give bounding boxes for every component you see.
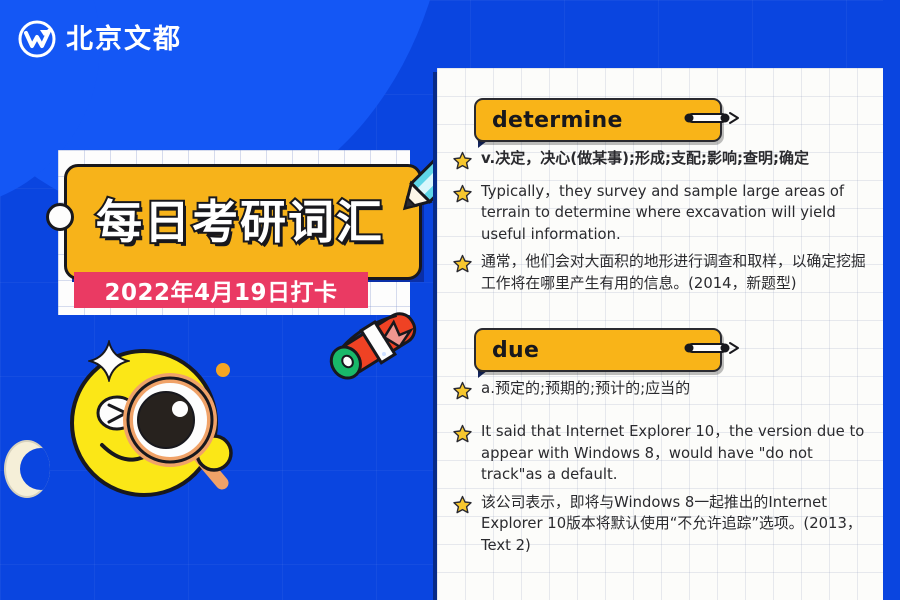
date-badge: 2022年4月19日打卡 xyxy=(74,272,368,308)
speaker-icon[interactable] xyxy=(682,109,740,127)
diploma-scroll-icon xyxy=(322,298,438,408)
vocab-entry: due xyxy=(437,310,883,556)
word-badge-wrap: determine xyxy=(474,98,718,142)
list-item: a.预定的;预期的;预计的;应当的 xyxy=(453,378,869,405)
circular-w-mark-icon xyxy=(18,20,56,58)
right-edge-strip xyxy=(883,0,900,600)
list-item: It said that Internet Explorer 10，the ve… xyxy=(453,421,869,485)
star-icon xyxy=(453,184,472,208)
line-spacer xyxy=(449,411,869,421)
sparkle-icon xyxy=(88,340,130,382)
dot-accent-orange xyxy=(216,363,230,377)
page-title: 每日考研词汇 xyxy=(64,164,416,274)
dot-accent-white xyxy=(382,352,386,356)
example-en-text: It said that Internet Explorer 10，the ve… xyxy=(481,421,869,485)
poster-canvas: 北京文都 每日考研词汇 2022年4月19日打卡 xyxy=(0,0,900,600)
crescent-icon-left xyxy=(4,440,50,498)
definition-list: a.预定的;预期的;预计的;应当的 It said that Internet … xyxy=(449,378,869,556)
definition-list: v.决定，决心(做某事);形成;支配;影响;查明;确定 Typically，th… xyxy=(449,148,869,294)
brand-logo: 北京文都 xyxy=(18,20,182,58)
star-icon xyxy=(453,381,472,405)
word-badge-wrap: due xyxy=(474,328,718,372)
list-item: Typically，they survey and sample large a… xyxy=(453,181,869,245)
list-item: v.决定，决心(做某事);形成;支配;影响;查明;确定 xyxy=(453,148,869,175)
word-label: determine xyxy=(476,108,623,133)
star-icon xyxy=(453,424,472,448)
star-icon xyxy=(453,495,472,519)
example-zh-text: 该公司表示，即将与Windows 8一起推出的Internet Explorer… xyxy=(481,492,869,556)
example-zh-text: 通常，他们会对大面积的地形进行调查和取样，以确定挖掘工作将在哪里产生有用的信息。… xyxy=(481,251,869,294)
speaker-icon[interactable] xyxy=(682,339,740,357)
star-icon xyxy=(453,254,472,278)
star-icon xyxy=(453,151,472,175)
note-card: determine xyxy=(437,68,883,600)
list-item: 通常，他们会对大面积的地形进行调查和取样，以确定挖掘工作将在哪里产生有用的信息。… xyxy=(453,251,869,294)
definition-text: a.预定的;预期的;预计的;应当的 xyxy=(481,378,690,400)
entry-divider-space xyxy=(437,300,883,310)
definition-text: v.决定，决心(做某事);形成;支配;影响;查明;确定 xyxy=(481,148,809,170)
example-en-text: Typically，they survey and sample large a… xyxy=(481,181,869,245)
list-item: 该公司表示，即将与Windows 8一起推出的Internet Explorer… xyxy=(453,492,869,556)
vocab-entry: determine xyxy=(437,68,883,294)
brand-name: 北京文都 xyxy=(66,26,182,53)
word-label: due xyxy=(476,338,539,363)
title-dot-icon xyxy=(46,203,74,231)
